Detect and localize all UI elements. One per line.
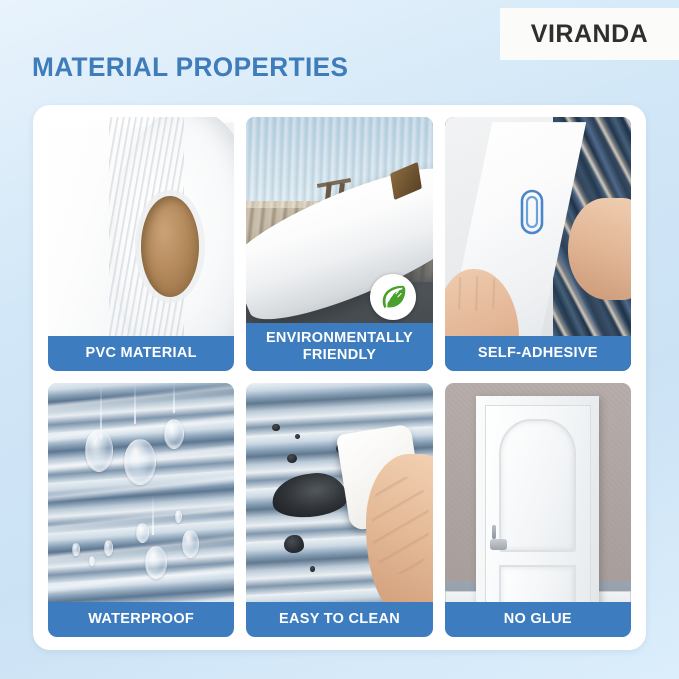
- feature-card-easy-to-clean[interactable]: EASY TO CLEAN: [246, 383, 432, 637]
- feature-card-self-adhesive[interactable]: SELF-ADHESIVE: [445, 117, 631, 371]
- page-header: MATERIAL PROPERTIES VIRANDA: [0, 0, 679, 105]
- feature-label-environmentally-friendly: ENVIRONMENTALLY FRIENDLY: [246, 323, 432, 371]
- pvc-roll-image: [48, 117, 234, 371]
- waterproof-image: [48, 383, 234, 637]
- feature-label-self-adhesive: SELF-ADHESIVE: [445, 336, 631, 371]
- brand-logo-box: VIRANDA: [500, 8, 679, 60]
- feature-card-no-glue[interactable]: NO GLUE: [445, 383, 631, 637]
- feature-card-environmentally-friendly[interactable]: ENVIRONMENTALLY FRIENDLY: [246, 117, 432, 371]
- door-handle: [490, 539, 507, 550]
- easy-to-clean-image: [246, 383, 432, 637]
- paperclip-icon: [519, 188, 545, 236]
- no-glue-image: [445, 383, 631, 637]
- feature-label-waterproof: WATERPROOF: [48, 602, 234, 637]
- brand-name: VIRANDA: [531, 20, 648, 49]
- door-frame: [476, 396, 599, 625]
- feature-card-pvc-material[interactable]: PVC MATERIAL: [48, 117, 234, 371]
- features-grid: PVC MATERIAL: [48, 117, 631, 637]
- features-panel: PVC MATERIAL: [33, 105, 646, 650]
- page-title: MATERIAL PROPERTIES: [32, 52, 348, 83]
- feature-label-pvc-material: PVC MATERIAL: [48, 336, 234, 371]
- feature-label-no-glue: NO GLUE: [445, 602, 631, 637]
- leaf-icon: [370, 274, 416, 320]
- roll-core: [141, 196, 199, 298]
- feature-label-easy-to-clean: EASY TO CLEAN: [246, 602, 432, 637]
- door: [485, 405, 591, 622]
- feature-card-waterproof[interactable]: WATERPROOF: [48, 383, 234, 637]
- self-adhesive-image: [445, 117, 631, 371]
